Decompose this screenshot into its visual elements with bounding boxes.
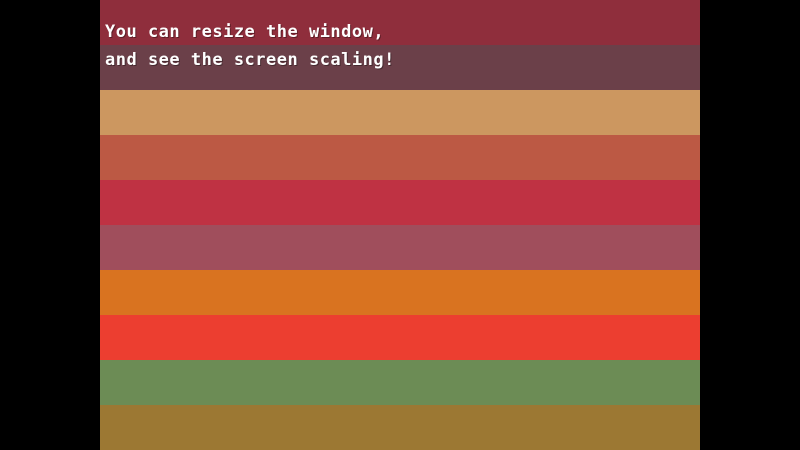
stripe-3 <box>100 90 700 135</box>
stripe-7 <box>100 270 700 315</box>
letterbox-bar-left <box>0 0 100 450</box>
stripe-2 <box>100 45 700 90</box>
stripe-5 <box>100 180 700 225</box>
stripe-1 <box>100 0 700 45</box>
stripe-8 <box>100 315 700 360</box>
stripe-6 <box>100 225 700 270</box>
stripe-9 <box>100 360 700 405</box>
app-window: You can resize the window, and see the s… <box>0 0 800 450</box>
scaled-viewport <box>100 0 700 450</box>
stripe-10 <box>100 405 700 450</box>
letterbox-bar-right <box>700 0 800 450</box>
color-stripe-list <box>100 0 700 450</box>
stripe-4 <box>100 135 700 180</box>
